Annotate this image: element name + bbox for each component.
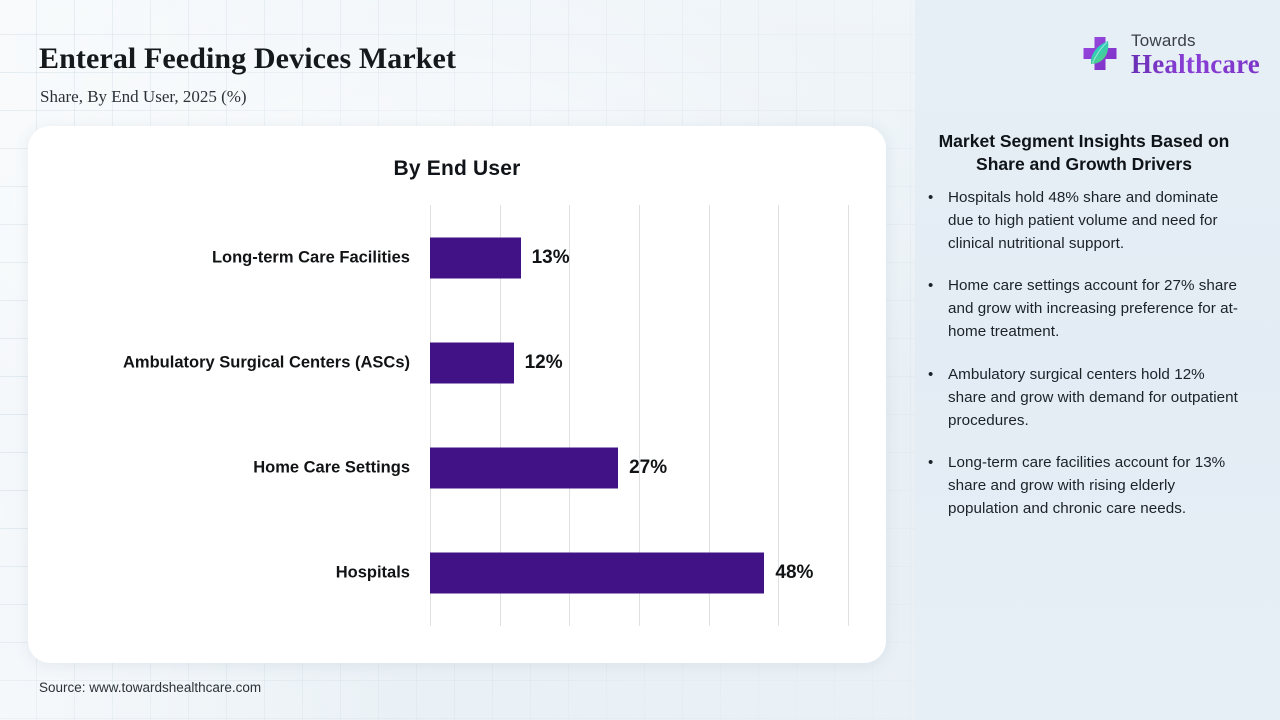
chart-bar-value-label: 12% xyxy=(525,352,563,374)
chart-bar-row: 48% xyxy=(430,521,848,626)
insight-text: Hospitals hold 48% share and dominate du… xyxy=(948,186,1244,255)
page-title: Enteral Feeding Devices Market xyxy=(39,42,456,76)
chart-bar-row: 12% xyxy=(430,310,848,415)
chart-bar[interactable] xyxy=(430,342,514,383)
chart-category-label-wrap: Long-term Care Facilities xyxy=(40,205,430,310)
infographic-slide: Enteral Feeding Devices Market Share, By… xyxy=(0,0,1280,720)
chart-bar-row: 13% xyxy=(430,205,848,310)
insight-item: •Hospitals hold 48% share and dominate d… xyxy=(928,186,1244,255)
bullet-icon: • xyxy=(928,451,938,520)
chart-category-label: Ambulatory Surgical Centers (ASCs) xyxy=(40,353,430,372)
chart-bar-row: 27% xyxy=(430,416,848,521)
chart-category-label-wrap: Ambulatory Surgical Centers (ASCs) xyxy=(40,310,430,415)
chart-bar[interactable] xyxy=(430,448,618,489)
chart-bar-value-label: 48% xyxy=(775,562,813,584)
logo-wordmark: Towards Healthcare xyxy=(1131,32,1260,78)
page-subtitle: Share, By End User, 2025 (%) xyxy=(40,87,247,107)
chart-category-label: Hospitals xyxy=(40,564,430,583)
chart-category-label: Home Care Settings xyxy=(40,459,430,478)
chart-category-label: Long-term Care Facilities xyxy=(40,248,430,267)
insights-list: •Hospitals hold 48% share and dominate d… xyxy=(928,186,1244,539)
chart-card: By End User 13%12%27%48% Long-term Care … xyxy=(28,126,886,663)
insight-item: •Home care settings account for 27% shar… xyxy=(928,274,1244,343)
insight-item: •Long-term care facilities account for 1… xyxy=(928,451,1244,520)
chart-bar-value-label: 13% xyxy=(532,247,570,269)
brand-logo[interactable]: Towards Healthcare xyxy=(1078,26,1258,84)
chart-title: By End User xyxy=(28,157,886,181)
insights-title: Market Segment Insights Based on Share a… xyxy=(924,130,1244,176)
insight-text: Home care settings account for 27% share… xyxy=(948,274,1244,343)
logo-text-healthcare: Healthcare xyxy=(1131,51,1260,78)
bar-chart-plot-area: 13%12%27%48% xyxy=(430,205,848,626)
chart-category-label-wrap: Home Care Settings xyxy=(40,416,430,521)
medical-cross-leaf-icon xyxy=(1078,33,1122,77)
bullet-icon: • xyxy=(928,186,938,255)
chart-bar[interactable] xyxy=(430,237,521,278)
logo-text-towards: Towards xyxy=(1131,32,1260,49)
insight-text: Long-term care facilities account for 13… xyxy=(948,451,1244,520)
bullet-icon: • xyxy=(928,274,938,343)
source-label: Source: www.towardshealthcare.com xyxy=(39,680,261,695)
chart-bar[interactable] xyxy=(430,553,764,594)
chart-gridline xyxy=(848,205,849,626)
bullet-icon: • xyxy=(928,363,938,432)
chart-bar-value-label: 27% xyxy=(629,457,667,479)
chart-category-label-wrap: Hospitals xyxy=(40,521,430,626)
insight-item: •Ambulatory surgical centers hold 12% sh… xyxy=(928,363,1244,432)
insight-text: Ambulatory surgical centers hold 12% sha… xyxy=(948,363,1244,432)
